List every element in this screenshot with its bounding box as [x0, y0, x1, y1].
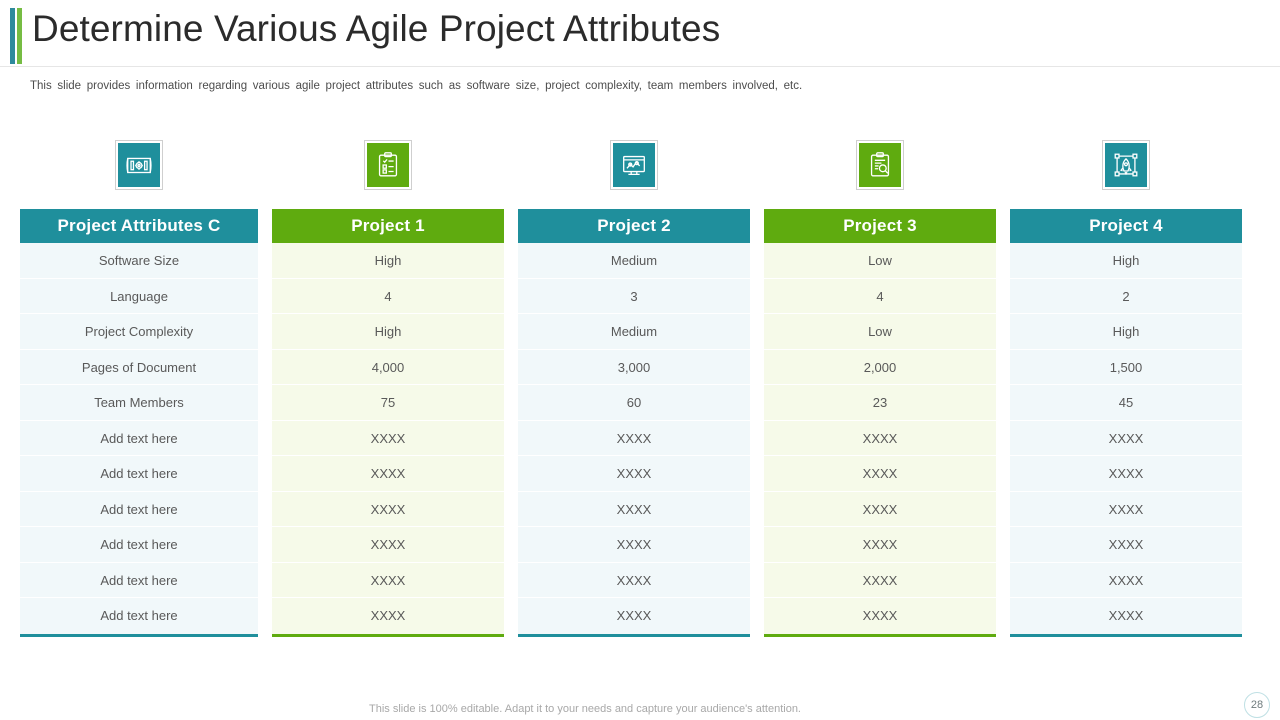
table-cell[interactable]: Medium	[518, 314, 750, 350]
table-cell[interactable]: XXXX	[1010, 492, 1242, 528]
page-title: Determine Various Agile Project Attribut…	[32, 8, 720, 50]
table-cell[interactable]: XXXX	[272, 492, 504, 528]
column-bottom-rule	[1010, 634, 1242, 637]
column-body: Medium3Medium3,00060XXXXXXXXXXXXXXXXXXXX…	[518, 243, 750, 634]
table-cell[interactable]: XXXX	[518, 563, 750, 599]
attribute-label-cell[interactable]: Project Complexity	[20, 314, 258, 350]
table-cell[interactable]: XXXX	[764, 456, 996, 492]
slide-subtitle: This slide provides information regardin…	[30, 80, 802, 92]
icon-frame	[1102, 140, 1150, 190]
footer-note: This slide is 100% editable. Adapt it to…	[369, 703, 801, 715]
accent-bar-teal	[10, 8, 15, 64]
table-cell[interactable]: XXXX	[272, 527, 504, 563]
column-header[interactable]: Project Attributes C	[20, 209, 258, 243]
table-cell[interactable]: 1,500	[1010, 350, 1242, 386]
table-cell[interactable]: XXXX	[1010, 456, 1242, 492]
icon-cell-5	[1010, 140, 1242, 190]
table-column-3: Project 2Medium3Medium3,00060XXXXXXXXXXX…	[518, 209, 750, 637]
table-cell[interactable]: XXXX	[764, 527, 996, 563]
icon-cell-1	[20, 140, 258, 190]
table-cell[interactable]: 3,000	[518, 350, 750, 386]
table-cell[interactable]: 23	[764, 385, 996, 421]
column-body: Low4Low2,00023XXXXXXXXXXXXXXXXXXXXXXXX	[764, 243, 996, 634]
icon-frame	[610, 140, 658, 190]
table-cell[interactable]: XXXX	[518, 598, 750, 634]
attribute-label-cell[interactable]: Pages of Document	[20, 350, 258, 386]
rocket-scale-icon	[1105, 143, 1147, 187]
clipboard-checklist-icon	[367, 143, 409, 187]
attribute-label-cell[interactable]: Software Size	[20, 243, 258, 279]
table-cell[interactable]: 4,000	[272, 350, 504, 386]
column-body: Software SizeLanguageProject ComplexityP…	[20, 243, 258, 634]
table-cell[interactable]: XXXX	[272, 598, 504, 634]
table-cell[interactable]: High	[272, 243, 504, 279]
table-cell[interactable]: 45	[1010, 385, 1242, 421]
title-accent-bars	[10, 8, 24, 64]
table-cell[interactable]: 4	[764, 279, 996, 315]
table-cell[interactable]: XXXX	[764, 492, 996, 528]
icon-cell-2	[272, 140, 504, 190]
table-cell[interactable]: 60	[518, 385, 750, 421]
table-cell[interactable]: XXXX	[518, 527, 750, 563]
icon-cell-3	[518, 140, 750, 190]
attribute-label-cell[interactable]: Add text here	[20, 563, 258, 599]
column-header[interactable]: Project 1	[272, 209, 504, 243]
icon-frame	[856, 140, 904, 190]
column-header[interactable]: Project 3	[764, 209, 996, 243]
table-column-1: Project Attributes CSoftware SizeLanguag…	[20, 209, 258, 637]
column-bottom-rule	[518, 634, 750, 637]
table-cell[interactable]: XXXX	[518, 456, 750, 492]
table-cell[interactable]: 3	[518, 279, 750, 315]
icon-frame	[115, 140, 163, 190]
blueprint-gear-icon	[118, 143, 160, 187]
table-cell[interactable]: XXXX	[272, 456, 504, 492]
table-cell[interactable]: Medium	[518, 243, 750, 279]
table-cell[interactable]: 75	[272, 385, 504, 421]
icon-cell-4	[764, 140, 996, 190]
column-header[interactable]: Project 4	[1010, 209, 1242, 243]
table-cell[interactable]: XXXX	[764, 421, 996, 457]
chart-monitor-icon	[613, 143, 655, 187]
table-cell[interactable]: 2	[1010, 279, 1242, 315]
table-cell[interactable]: XXXX	[518, 492, 750, 528]
table-cell[interactable]: Low	[764, 243, 996, 279]
table-cell[interactable]: 4	[272, 279, 504, 315]
attribute-label-cell[interactable]: Add text here	[20, 456, 258, 492]
slide-header: Determine Various Agile Project Attribut…	[0, 0, 1280, 72]
attributes-table: Project Attributes CSoftware SizeLanguag…	[20, 209, 1260, 637]
page-number-badge: 28	[1244, 692, 1270, 718]
column-body: High4High4,00075XXXXXXXXXXXXXXXXXXXXXXXX	[272, 243, 504, 634]
table-cell[interactable]: XXXX	[272, 421, 504, 457]
table-cell[interactable]: 2,000	[764, 350, 996, 386]
column-bottom-rule	[272, 634, 504, 637]
table-cell[interactable]: High	[1010, 243, 1242, 279]
column-body: High2High1,50045XXXXXXXXXXXXXXXXXXXXXXXX	[1010, 243, 1242, 634]
table-column-5: Project 4High2High1,50045XXXXXXXXXXXXXXX…	[1010, 209, 1242, 637]
table-cell[interactable]: XXXX	[764, 563, 996, 599]
table-cell[interactable]: XXXX	[518, 421, 750, 457]
attribute-label-cell[interactable]: Add text here	[20, 421, 258, 457]
attribute-label-cell[interactable]: Team Members	[20, 385, 258, 421]
table-cell[interactable]: XXXX	[764, 598, 996, 634]
icon-row	[20, 140, 1260, 190]
table-cell[interactable]: XXXX	[1010, 563, 1242, 599]
table-cell[interactable]: High	[272, 314, 504, 350]
table-column-4: Project 3Low4Low2,00023XXXXXXXXXXXXXXXXX…	[764, 209, 996, 637]
icon-frame	[364, 140, 412, 190]
header-divider	[0, 66, 1280, 67]
table-cell[interactable]: XXXX	[272, 563, 504, 599]
table-cell[interactable]: XXXX	[1010, 527, 1242, 563]
column-bottom-rule	[20, 634, 258, 637]
table-cell[interactable]: Low	[764, 314, 996, 350]
column-bottom-rule	[764, 634, 996, 637]
column-header[interactable]: Project 2	[518, 209, 750, 243]
accent-bar-green	[17, 8, 22, 64]
table-column-2: Project 1High4High4,00075XXXXXXXXXXXXXXX…	[272, 209, 504, 637]
document-search-icon	[859, 143, 901, 187]
attribute-label-cell[interactable]: Language	[20, 279, 258, 315]
table-cell[interactable]: XXXX	[1010, 598, 1242, 634]
table-cell[interactable]: High	[1010, 314, 1242, 350]
attribute-label-cell[interactable]: Add text here	[20, 598, 258, 634]
attribute-label-cell[interactable]: Add text here	[20, 527, 258, 563]
attribute-label-cell[interactable]: Add text here	[20, 492, 258, 528]
table-cell[interactable]: XXXX	[1010, 421, 1242, 457]
